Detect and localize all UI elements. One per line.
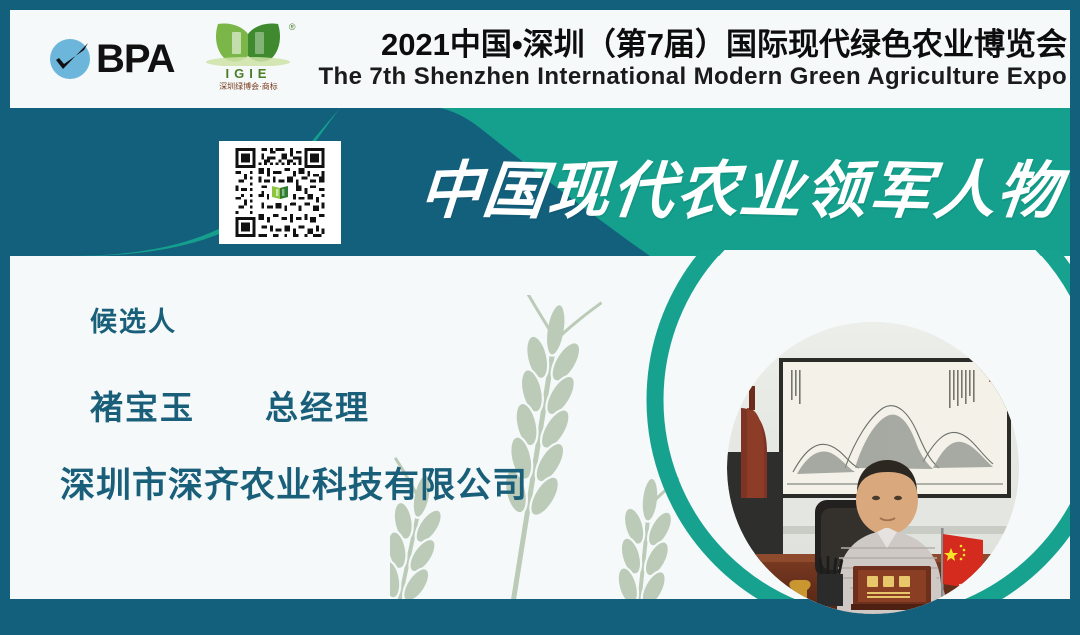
bpa-globe-check-icon bbox=[48, 36, 94, 82]
header-titles: 2021中国•深圳（第7届）国际现代绿色农业博览会 The 7th Shenzh… bbox=[318, 28, 1080, 90]
igie-open-book-leaf-icon: ® bbox=[202, 22, 294, 66]
candidate-person-row: 褚宝玉 总经理 bbox=[90, 381, 660, 429]
candidate-label: 候选人 bbox=[90, 300, 660, 339]
candidate-role: 总经理 bbox=[265, 381, 370, 429]
banner-headline: 中 国 现 代 农 业 领 军 人 物 bbox=[420, 140, 1060, 230]
igie-logo-icon bbox=[269, 183, 291, 203]
poster-canvas: 中 国 现 代 农 业 领 军 人 物 候选人 褚宝玉 总经理 深圳市深齐农业科… bbox=[0, 0, 1080, 635]
headline-char: 物 bbox=[993, 139, 1065, 231]
registered-mark: ® bbox=[289, 22, 296, 32]
headline-char: 现 bbox=[545, 139, 614, 231]
igie-acronym: IGIE bbox=[225, 67, 271, 80]
headline-char: 国 bbox=[479, 139, 551, 231]
igie-logo: ® IGIE 深圳绿博会·商标 bbox=[200, 22, 296, 96]
expo-title-en: The 7th Shenzhen International Modern Gr… bbox=[318, 64, 1067, 90]
headline-char: 军 bbox=[864, 139, 936, 231]
headline-char: 领 bbox=[802, 139, 871, 231]
qr-code-icon[interactable] bbox=[219, 141, 341, 244]
expo-title-cn: 2021中国•深圳（第7届）国际现代绿色农业博览会 bbox=[381, 28, 1067, 63]
portrait-photo bbox=[727, 322, 1019, 614]
headline-char: 农 bbox=[674, 139, 743, 231]
headline-char: 业 bbox=[736, 139, 808, 231]
headline-char: 人 bbox=[930, 139, 999, 231]
poster-header: BPA ® IGIE 深圳绿博会·商标 2021中国•深圳（第7届）国际现代绿色… bbox=[10, 10, 1070, 108]
bpa-logo: BPA bbox=[48, 36, 174, 82]
bpa-logo-text: BPA bbox=[96, 39, 174, 79]
candidate-company: 深圳市深齐农业科技有限公司 bbox=[60, 457, 660, 508]
candidate-info: 候选人 褚宝玉 总经理 深圳市深齐农业科技有限公司 bbox=[60, 300, 660, 508]
headline-char: 代 bbox=[608, 139, 680, 231]
igie-subtitle: 深圳绿博会·商标 bbox=[219, 83, 278, 91]
headline-char: 中 bbox=[417, 139, 486, 231]
candidate-name: 褚宝玉 bbox=[90, 381, 195, 429]
